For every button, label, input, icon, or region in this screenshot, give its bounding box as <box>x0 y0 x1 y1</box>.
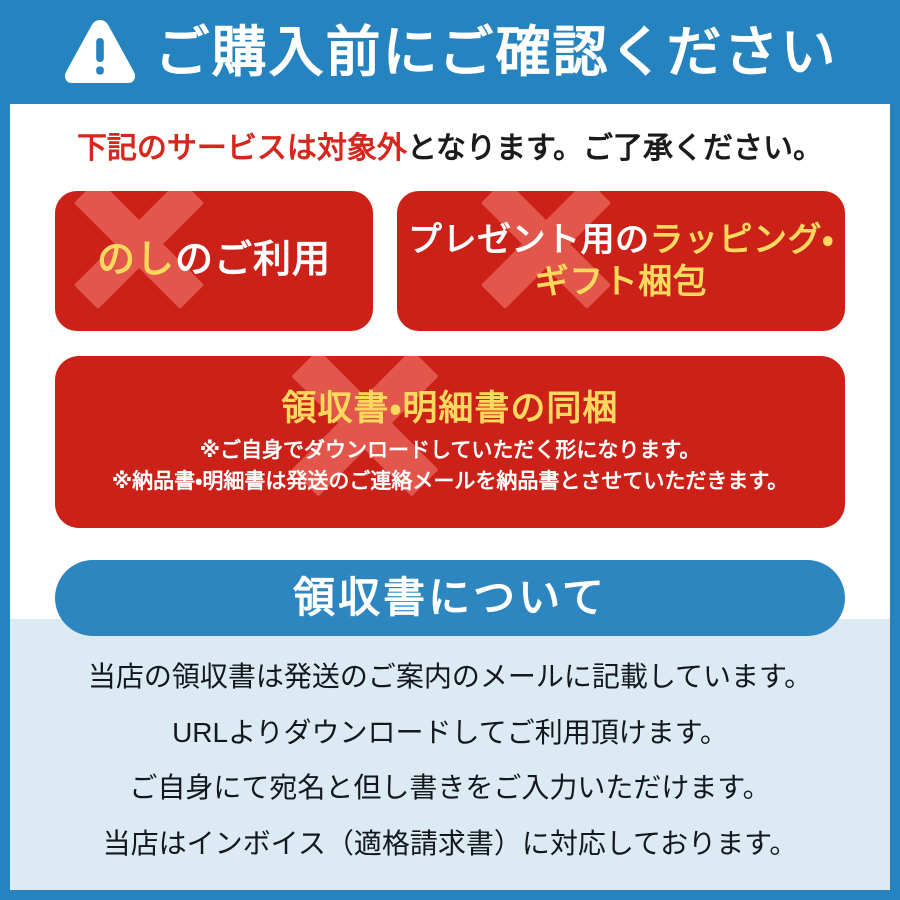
receipt-line-1: 当店の領収書は発送のご案内のメールに記載しています。 <box>10 660 890 694</box>
card-receipt-content: 領収書・明細書の同梱 ※ご自身でダウンロードしていただく形になります。 ※納品書… <box>112 387 788 498</box>
receipt-description: 当店の領収書は発送のご案内のメールに記載しています。 URLよりダウンロードして… <box>10 660 890 860</box>
card-receipt-note-1: ※ご自身でダウンロードしていただく形になります。 <box>112 436 788 466</box>
card-receipt-note-2: ※納品書・明細書は発送のご連絡メールを納品書とさせていただきます。 <box>112 467 788 497</box>
card-gift-wrapping-label: プレゼント用のラッピング・ ギフト梱包 <box>408 219 834 304</box>
warning-triangle-icon <box>63 18 137 86</box>
page-title: ご購入前にご確認ください <box>155 25 838 80</box>
card-wrap-label-white: プレゼント用の <box>408 221 650 259</box>
card-noshi-label: のしのご利用 <box>97 237 331 285</box>
subtitle: 下記のサービスは対象外となります。ご了承ください。 <box>10 104 890 165</box>
notice-banner: ご購入前にご確認ください 下記のサービスは対象外となります。ご了承ください。 の… <box>0 0 900 900</box>
subtitle-rest: となります。ご了承ください。 <box>407 132 823 165</box>
card-gift-wrapping: プレゼント用のラッピング・ ギフト梱包 <box>397 191 845 331</box>
excluded-services-row: のしのご利用 プレゼント用のラッピング・ ギフト梱包 <box>10 191 890 331</box>
banner-header: ご購入前にご確認ください <box>10 0 890 104</box>
receipt-line-4: 当店はインボイス（適格請求書）に対応しております。 <box>10 827 890 861</box>
content-panel: 下記のサービスは対象外となります。ご了承ください。 のしのご利用 <box>10 104 890 890</box>
card-noshi: のしのご利用 <box>55 191 373 331</box>
receipt-section-title: 領収書について <box>293 577 607 619</box>
card-receipt-enclosure: 領収書・明細書の同梱 ※ご自身でダウンロードしていただく形になります。 ※納品書… <box>55 356 845 528</box>
card-wrap-label-yellow-1: ラッピング・ <box>649 221 834 259</box>
receipt-line-2: URLよりダウンロードしてご利用頂けます。 <box>10 716 890 750</box>
card-receipt-heading: 領収書・明細書の同梱 <box>112 387 788 431</box>
card-noshi-label-white: のご利用 <box>175 239 331 281</box>
card-noshi-label-yellow: のし <box>97 239 175 281</box>
subtitle-highlight: 下記のサービスは対象外 <box>77 132 407 165</box>
receipt-section-pill: 領収書について <box>55 560 845 636</box>
receipt-line-3: ご自身にて宛名と但し書きをご入力いただけます。 <box>10 771 890 805</box>
card-wrap-label-yellow-2: ギフト梱包 <box>535 263 708 301</box>
